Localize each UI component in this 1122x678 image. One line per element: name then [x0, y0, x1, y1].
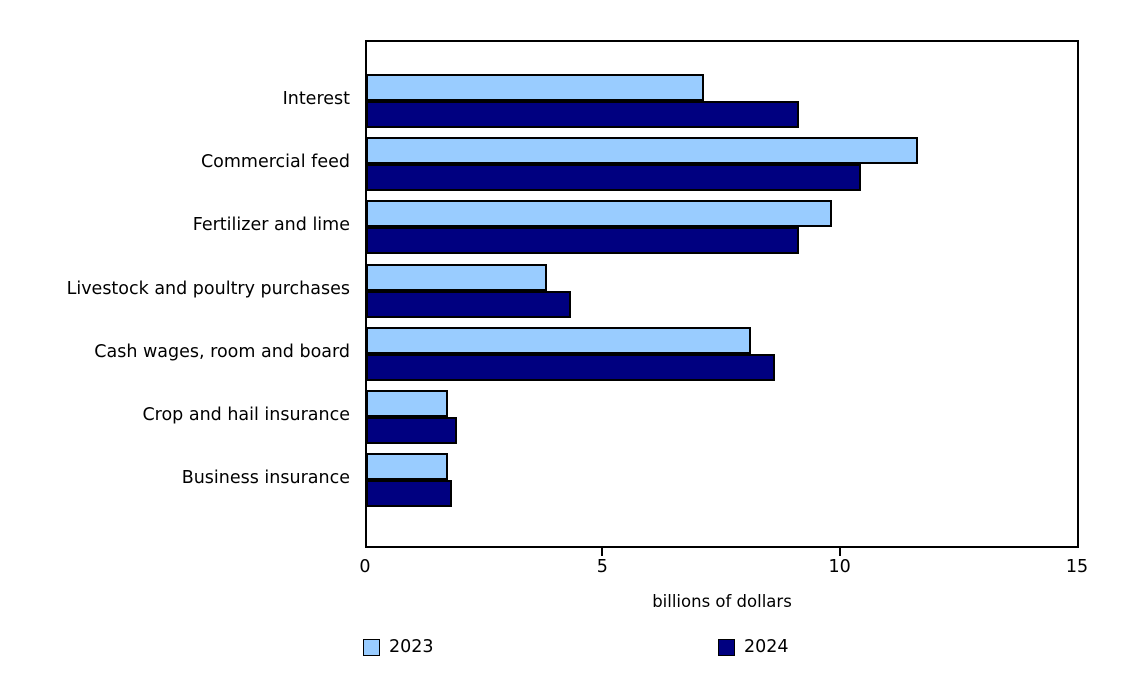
legend-label-2024: 2024	[744, 638, 789, 657]
bar-2023-1	[366, 137, 918, 164]
bar-2023-2	[366, 200, 832, 227]
category-axis-labels: Interest Commercial feed Fertilizer and …	[0, 40, 350, 548]
category-label-livestock-and-poultry-purchases: Livestock and poultry purchases	[0, 279, 350, 299]
x-tick-label-0: 0	[325, 556, 405, 578]
bars-layer	[367, 42, 1077, 546]
category-label-interest: Interest	[0, 89, 350, 109]
category-label-cash-wages-room-and-board: Cash wages, room and board	[0, 342, 350, 362]
bar-2024-5	[366, 417, 457, 444]
bar-2024-0	[366, 101, 799, 128]
x-tick-10	[839, 548, 841, 556]
category-label-crop-and-hail-insurance: Crop and hail insurance	[0, 405, 350, 425]
bar-2024-1	[366, 164, 861, 191]
legend-swatch-2023-icon	[363, 639, 380, 656]
bar-2023-4	[366, 327, 751, 354]
bar-2024-4	[366, 354, 775, 381]
legend-swatch-2024-icon	[718, 639, 735, 656]
legend-label-2023: 2023	[389, 638, 434, 657]
legend-item-2023: 2023	[363, 638, 434, 657]
bar-2023-0	[366, 74, 704, 101]
bar-2023-5	[366, 390, 448, 417]
bar-2023-6	[366, 453, 448, 480]
x-tick-label-15: 15	[1037, 556, 1117, 578]
chart-legend: 2023 2024	[0, 638, 1122, 668]
bar-chart: Interest Commercial feed Fertilizer and …	[0, 0, 1122, 678]
x-tick-label-5: 5	[562, 556, 642, 578]
x-tick-label-10: 10	[800, 556, 880, 578]
bar-2024-3	[366, 291, 571, 318]
bar-2023-3	[366, 264, 547, 291]
category-label-fertilizer-and-lime: Fertilizer and lime	[0, 215, 350, 235]
plot-area	[365, 40, 1079, 548]
bar-2024-6	[366, 480, 452, 507]
x-axis-title: billions of dollars	[365, 592, 1079, 611]
x-tick-5	[601, 548, 603, 556]
category-label-commercial-feed: Commercial feed	[0, 152, 350, 172]
bar-2024-2	[366, 227, 799, 254]
category-label-business-insurance: Business insurance	[0, 468, 350, 488]
legend-item-2024: 2024	[718, 638, 789, 657]
